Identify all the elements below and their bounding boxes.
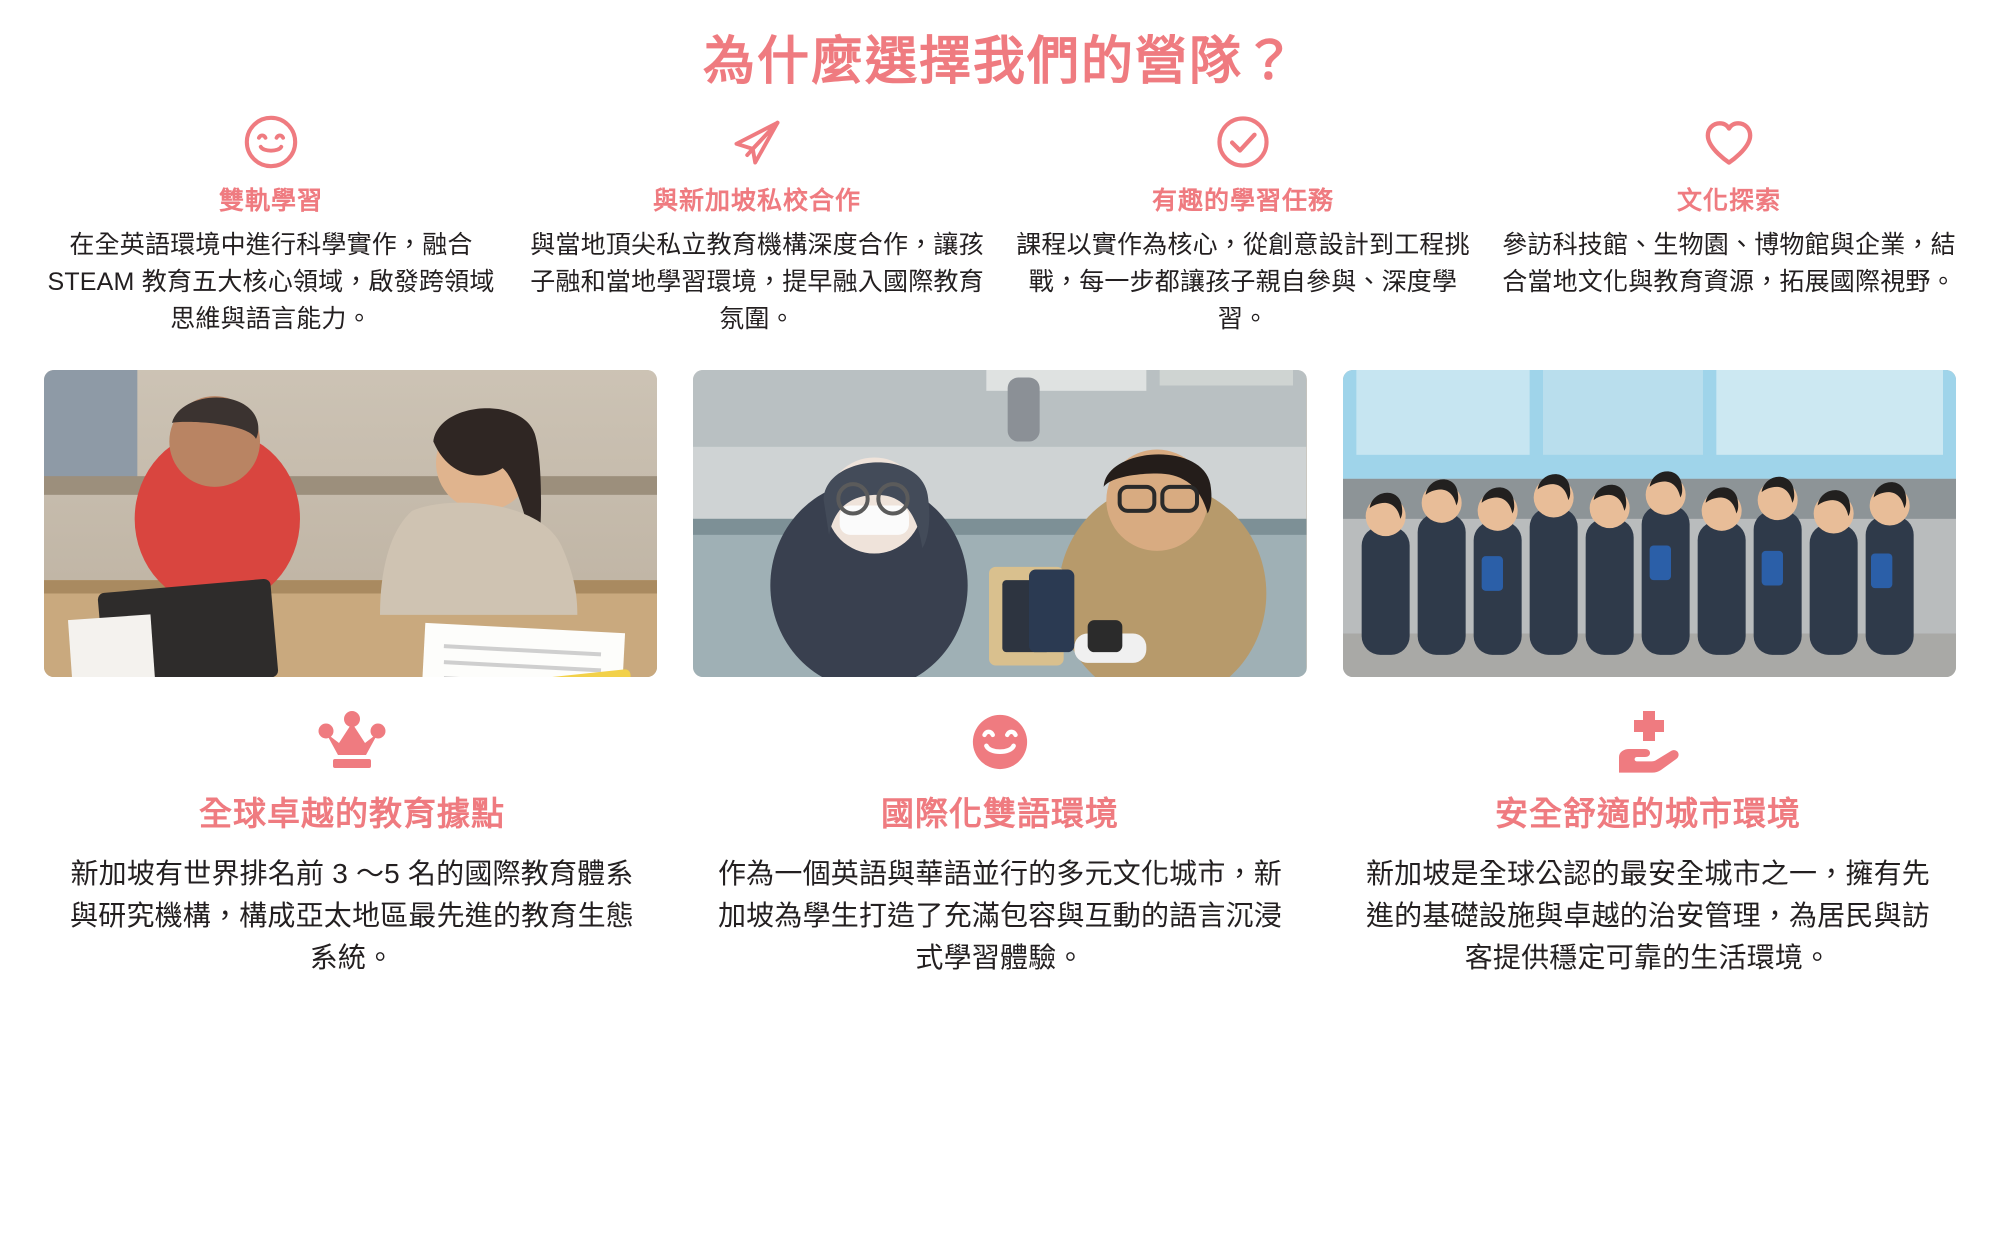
- page-title: 為什麼選擇我們的營隊？: [0, 0, 2000, 95]
- photo-group-students-outdoors: [1343, 370, 1956, 677]
- feature-title: 有趣的學習任務: [1152, 181, 1334, 217]
- hand-holding-cross-icon: [1615, 703, 1681, 773]
- benefit-card-bilingual-environment: 國際化雙語環境 作為一個英語與華語並行的多元文化城市，新加坡為學生打造了充滿包容…: [696, 703, 1304, 979]
- feature-description: 在全英語環境中進行科學實作，融合 STEAM 教育五大核心領域，啟發跨領域思維與…: [44, 227, 499, 338]
- feature-card-school-partnership: 與新加坡私校合作 與當地頂尖私立教育機構深度合作，讓孩子融和當地學習環境，提早融…: [522, 113, 992, 338]
- smiley-filled-icon: [969, 703, 1031, 773]
- heart-outline-icon: [1700, 113, 1758, 171]
- feature-card-learning-missions: 有趣的學習任務 課程以實作為核心，從創意設計到工程挑戰，每一步都讓孩子親自參與、…: [1008, 113, 1478, 338]
- feature-card-dual-track: 雙軌學習 在全英語環境中進行科學實作，融合 STEAM 教育五大核心領域，啟發跨…: [36, 113, 506, 338]
- benefits-row: 全球卓越的教育據點 新加坡有世界排名前 3 ～5 名的國際教育體系與研究機構，構…: [0, 677, 2000, 979]
- check-circle-icon: [1214, 113, 1272, 171]
- feature-title: 文化探索: [1677, 181, 1781, 217]
- features-row: 雙軌學習 在全英語環境中進行科學實作，融合 STEAM 教育五大核心領域，啟發跨…: [0, 95, 2000, 338]
- benefit-title: 全球卓越的教育據點: [199, 787, 505, 835]
- benefit-card-safe-city: 安全舒適的城市環境 新加坡是全球公認的最安全城市之一，擁有先進的基礎設施與卓越的…: [1344, 703, 1952, 979]
- benefit-title: 安全舒適的城市環境: [1495, 787, 1801, 835]
- feature-card-culture-exploration: 文化探索 參訪科技館、生物園、博物館與企業，結合當地文化與教育資源，拓展國際視野…: [1494, 113, 1964, 301]
- paper-plane-icon: [728, 113, 786, 171]
- benefit-description: 作為一個英語與華語並行的多元文化城市，新加坡為學生打造了充滿包容與互動的語言沉浸…: [710, 853, 1290, 979]
- feature-description: 課程以實作為核心，從創意設計到工程挑戰，每一步都讓孩子親自參與、深度學習。: [1016, 227, 1471, 338]
- photos-row: [0, 338, 2000, 677]
- feature-description: 與當地頂尖私立教育機構深度合作，讓孩子融和當地學習環境，提早融入國際教育氛圍。: [530, 227, 985, 338]
- feature-title: 與新加坡私校合作: [653, 181, 861, 217]
- benefit-description: 新加坡有世界排名前 3 ～5 名的國際教育體系與研究機構，構成亞太地區最先進的教…: [62, 853, 642, 979]
- crown-icon: [318, 703, 386, 773]
- promo-page: 為什麼選擇我們的營隊？ 雙軌學習 在全英語環境中進行科學實作，融合 STEAM …: [0, 0, 2000, 1259]
- benefit-title: 國際化雙語環境: [881, 787, 1119, 835]
- photo-students-building-project: [693, 370, 1306, 677]
- benefit-description: 新加坡是全球公認的最安全城市之一，擁有先進的基礎設施與卓越的治安管理，為居民與訪…: [1358, 853, 1938, 979]
- smiley-face-icon: [242, 113, 300, 171]
- feature-title: 雙軌學習: [219, 181, 323, 217]
- feature-description: 參訪科技館、生物園、博物館與企業，結合當地文化與教育資源，拓展國際視野。: [1502, 227, 1957, 301]
- photo-teacher-and-student-tablet: [44, 370, 657, 677]
- benefit-card-education-hub: 全球卓越的教育據點 新加坡有世界排名前 3 ～5 名的國際教育體系與研究機構，構…: [48, 703, 656, 979]
